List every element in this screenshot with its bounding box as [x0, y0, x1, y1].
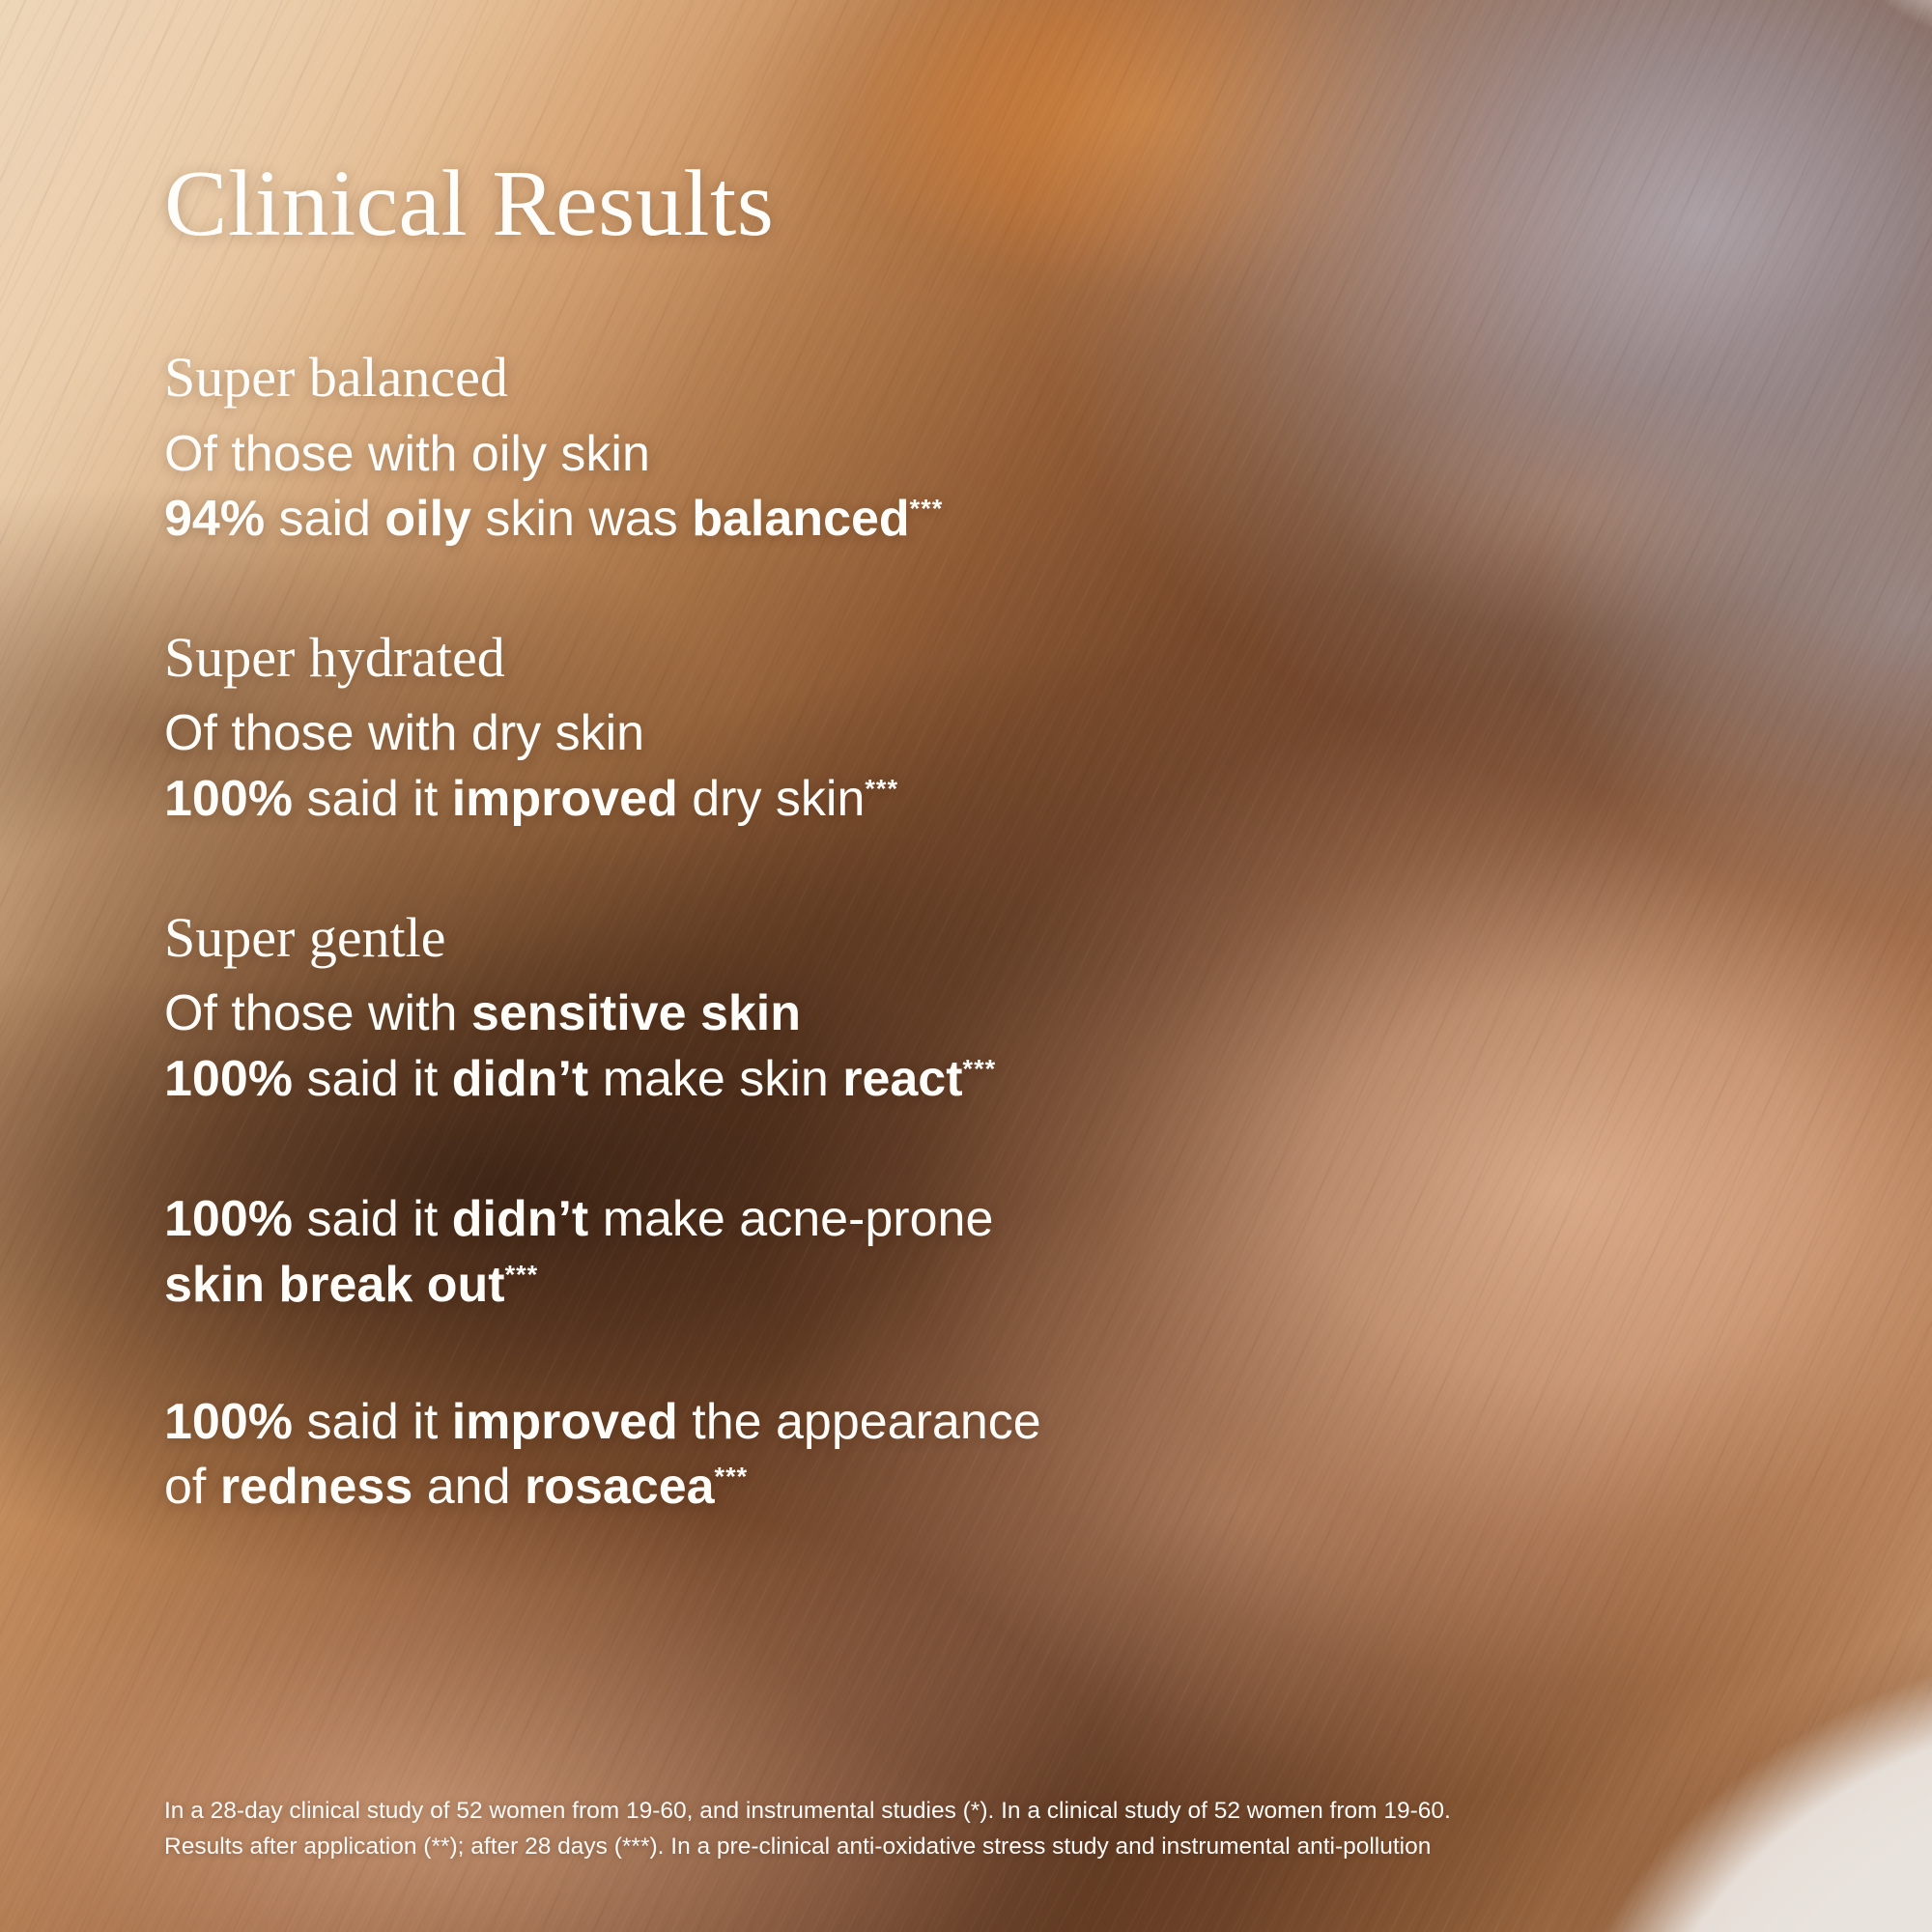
claim-emphasis: redness: [220, 1459, 412, 1515]
footnote-marker: ***: [910, 495, 944, 524]
claim-emphasis: 100%: [164, 1051, 293, 1107]
claim-text: make skin: [588, 1051, 842, 1107]
claim-block: Super hydratedOf those with dry skin100%…: [164, 628, 1420, 908]
block-spacer: [164, 1112, 1420, 1187]
claim-heading: Super gentle: [164, 908, 1420, 969]
claim-line: Of those with dry skin: [164, 701, 1420, 767]
claim-line: 100% said it improved the appearance: [164, 1390, 1420, 1456]
block-spacer: [164, 833, 1420, 908]
claim-heading: Super hydrated: [164, 628, 1420, 689]
claim-emphasis: sensitive skin: [471, 985, 801, 1041]
claim-emphasis: 100%: [164, 1191, 293, 1247]
content-overlay: Clinical Results Super balancedOf those …: [0, 0, 1932, 1932]
claims-list: Super balancedOf those with oily skin94%…: [164, 348, 1420, 1520]
claim-block: 100% said it improved the appearanceof r…: [164, 1390, 1420, 1520]
claim-text: said it: [293, 1394, 452, 1450]
claim-emphasis: improved: [452, 771, 678, 827]
claim-text: said it: [293, 1191, 452, 1247]
claim-text: said: [265, 491, 384, 547]
claim-text: dry skin: [678, 771, 866, 827]
claim-emphasis: 100%: [164, 1394, 293, 1450]
claim-line: of redness and rosacea***: [164, 1455, 1420, 1520]
claim-emphasis: 94%: [164, 491, 265, 547]
claim-text: skin was: [471, 491, 692, 547]
claim-text: of: [164, 1459, 220, 1515]
footnote-line-2: Results after application (**); after 28…: [164, 1829, 1874, 1864]
claim-text: Of those with: [164, 985, 471, 1041]
claim-heading: Super balanced: [164, 348, 1420, 409]
claim-text: the appearance: [678, 1394, 1041, 1450]
claim-emphasis: oily: [384, 491, 471, 547]
marketing-card: Clinical Results Super balancedOf those …: [0, 0, 1932, 1932]
block-spacer: [164, 553, 1420, 628]
claim-line: Of those with oily skin: [164, 422, 1420, 488]
page-title: Clinical Results: [164, 156, 774, 251]
footnote-marker: ***: [505, 1261, 539, 1290]
footnote-marker: ***: [865, 775, 898, 804]
claim-emphasis: rosacea: [525, 1459, 715, 1515]
claim-emphasis: didn’t: [452, 1051, 589, 1107]
footnote-marker: ***: [715, 1463, 749, 1492]
claim-line: 100% said it improved dry skin***: [164, 767, 1420, 833]
claim-line: Of those with sensitive skin: [164, 981, 1420, 1047]
claim-text: said it: [293, 771, 452, 827]
claim-emphasis: react: [842, 1051, 962, 1107]
claim-line: skin break out***: [164, 1253, 1420, 1319]
block-spacer: [164, 1319, 1420, 1390]
claim-line: 94% said oily skin was balanced***: [164, 487, 1420, 553]
claim-emphasis: balanced: [692, 491, 909, 547]
claim-text: and: [412, 1459, 525, 1515]
claim-block: Super gentleOf those with sensitive skin…: [164, 908, 1420, 1188]
footnote-disclaimer: In a 28-day clinical study of 52 women f…: [164, 1793, 1874, 1864]
footnote-marker: ***: [963, 1055, 997, 1084]
claim-line: 100% said it didn’t make acne-prone: [164, 1187, 1420, 1253]
claim-emphasis: improved: [452, 1394, 678, 1450]
claim-emphasis: 100%: [164, 771, 293, 827]
claim-emphasis: skin break out: [164, 1257, 505, 1313]
claim-text: Of those with oily skin: [164, 426, 650, 482]
claim-line: 100% said it didn’t make skin react***: [164, 1047, 1420, 1113]
claim-text: said it: [293, 1051, 452, 1107]
claim-emphasis: didn’t: [452, 1191, 589, 1247]
claim-text: Of those with dry skin: [164, 705, 644, 761]
claim-block: 100% said it didn’t make acne-proneskin …: [164, 1187, 1420, 1389]
claim-block: Super balancedOf those with oily skin94%…: [164, 348, 1420, 628]
claim-text: make acne-prone: [588, 1191, 993, 1247]
footnote-line-1: In a 28-day clinical study of 52 women f…: [164, 1793, 1874, 1829]
